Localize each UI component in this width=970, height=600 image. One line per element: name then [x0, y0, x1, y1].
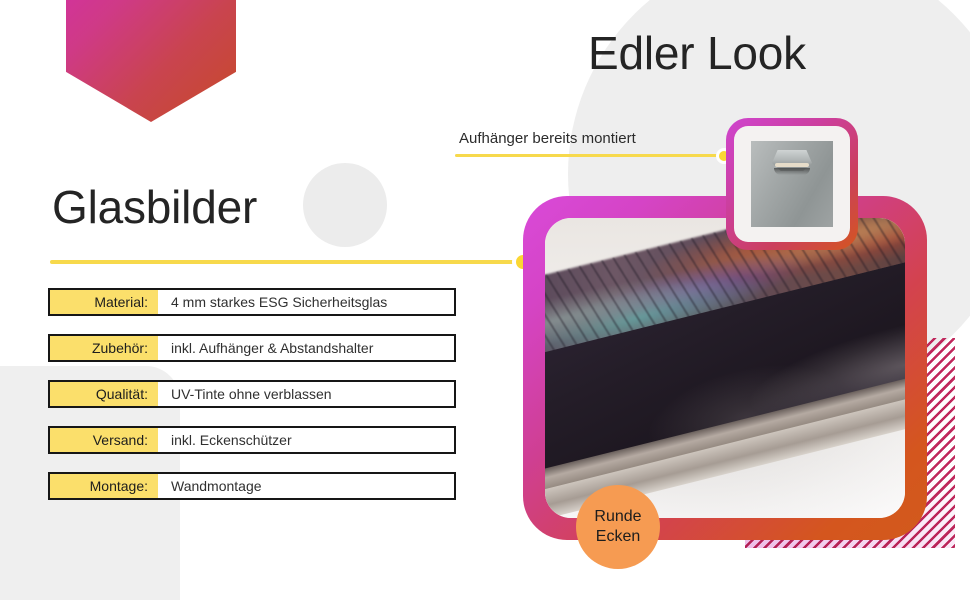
spec-value: inkl. Eckenschützer: [158, 428, 454, 452]
spec-label: Montage:: [50, 474, 158, 498]
background-circle-behind-title: [303, 163, 387, 247]
callout-line-hanger: [455, 154, 725, 157]
spec-table: Material: 4 mm starkes ESG Sicherheitsgl…: [48, 288, 456, 518]
glass-print-corner-photo: [545, 218, 905, 518]
spec-value: Wandmontage: [158, 474, 454, 498]
wall-hanger-plate-icon: [726, 118, 858, 250]
spec-value: 4 mm starkes ESG Sicherheitsglas: [158, 290, 454, 314]
spec-label: Qualität:: [50, 382, 158, 406]
spec-value: UV-Tinte ohne verblassen: [158, 382, 454, 406]
infographic-canvas: Edler Look Glasbilder Aufhänger bereits …: [0, 0, 970, 600]
table-row: Material: 4 mm starkes ESG Sicherheitsgl…: [48, 288, 456, 316]
badge-line-2: Ecken: [596, 527, 640, 547]
connector-line-left: [50, 260, 520, 264]
hanger-plate: [751, 141, 833, 227]
table-row: Zubehör: inkl. Aufhänger & Abstandshalte…: [48, 334, 456, 362]
spec-label: Material:: [50, 290, 158, 314]
status-badge-round-corners: Runde Ecken: [576, 485, 660, 569]
hanger-slot: [775, 163, 809, 167]
table-row: Montage: Wandmontage: [48, 472, 456, 500]
shield-badge-icon: [66, 0, 236, 122]
callout-label-hanger: Aufhänger bereits montiert: [459, 130, 636, 147]
spec-value: inkl. Aufhänger & Abstandshalter: [158, 336, 454, 360]
page-title-right: Edler Look: [588, 26, 806, 80]
table-row: Versand: inkl. Eckenschützer: [48, 426, 456, 454]
badge-line-1: Runde: [594, 507, 641, 527]
photo-glass-slab: [545, 218, 905, 518]
product-card: [523, 196, 927, 540]
inset-frame: [734, 126, 850, 242]
page-title: Glasbilder: [52, 180, 257, 234]
table-row: Qualität: UV-Tinte ohne verblassen: [48, 380, 456, 408]
spec-label: Versand:: [50, 428, 158, 452]
spec-label: Zubehör:: [50, 336, 158, 360]
hanger-shadow: [774, 168, 810, 175]
